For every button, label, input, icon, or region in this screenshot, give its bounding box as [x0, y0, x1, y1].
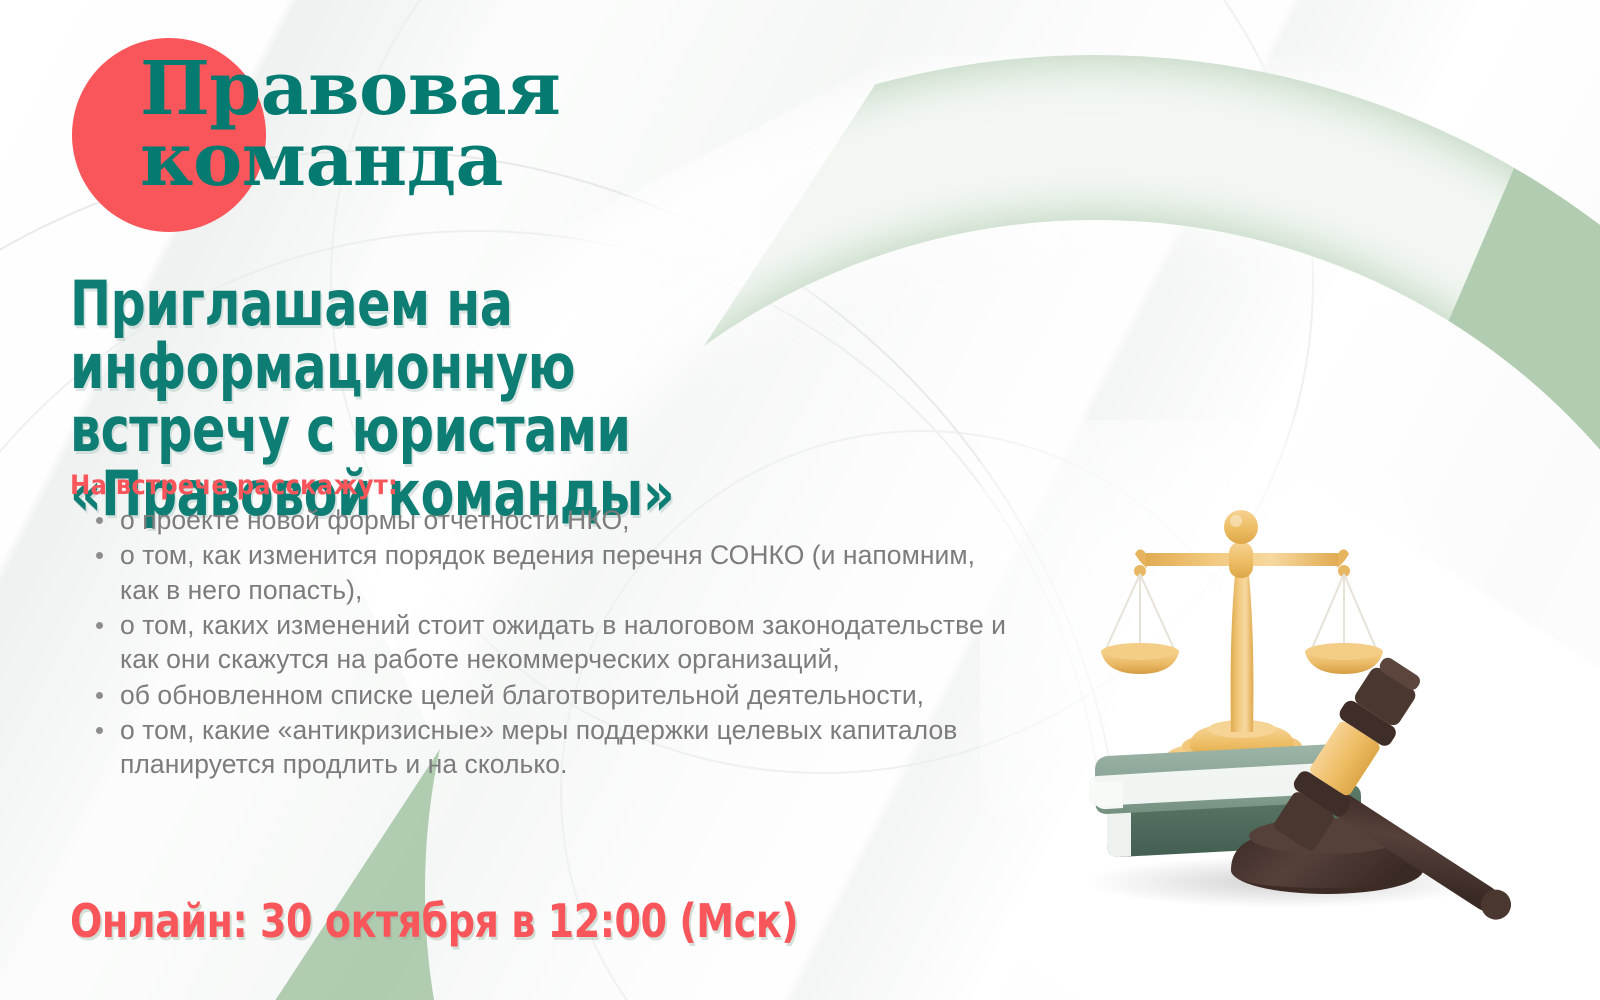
list-item-text: о проекте новой формы отчетности НКО,: [120, 505, 630, 535]
agenda-heading: На встрече расскажут:: [70, 470, 398, 501]
bullet-dot-icon: [96, 517, 103, 524]
logo-wordmark: Правовая команда: [140, 54, 560, 196]
list-item: о проекте новой формы отчетности НКО,: [86, 503, 1006, 537]
list-item-text: о том, какие «антикризисные» меры поддер…: [120, 715, 957, 779]
scales-books-gavel-icon: [1035, 470, 1565, 920]
list-item: о том, как изменится порядок ведения пер…: [86, 538, 1006, 607]
bullet-dot-icon: [96, 727, 103, 734]
event-datetime: Онлайн: 30 октября в 12:00 (Мск): [70, 898, 798, 944]
bullet-dot-icon: [96, 622, 103, 629]
list-item-text: о том, каких изменений стоит ожидать в н…: [120, 610, 1006, 674]
list-item-text: о том, как изменится порядок ведения пер…: [120, 540, 975, 604]
list-item: о том, каких изменений стоит ожидать в н…: [86, 608, 1006, 677]
list-item: о том, какие «антикризисные» меры поддер…: [86, 713, 1006, 782]
poster-canvas: Правовая команда Приглашаем на информаци…: [0, 0, 1600, 1000]
list-item-text: об обновленном списке целей благотворите…: [120, 680, 924, 710]
bullet-dot-icon: [96, 552, 103, 559]
agenda-list: о проекте новой формы отчетности НКО, о …: [86, 503, 1006, 783]
brand-logo: Правовая команда: [72, 38, 692, 248]
list-item: об обновленном списке целей благотворите…: [86, 678, 1006, 712]
bullet-dot-icon: [96, 692, 103, 699]
